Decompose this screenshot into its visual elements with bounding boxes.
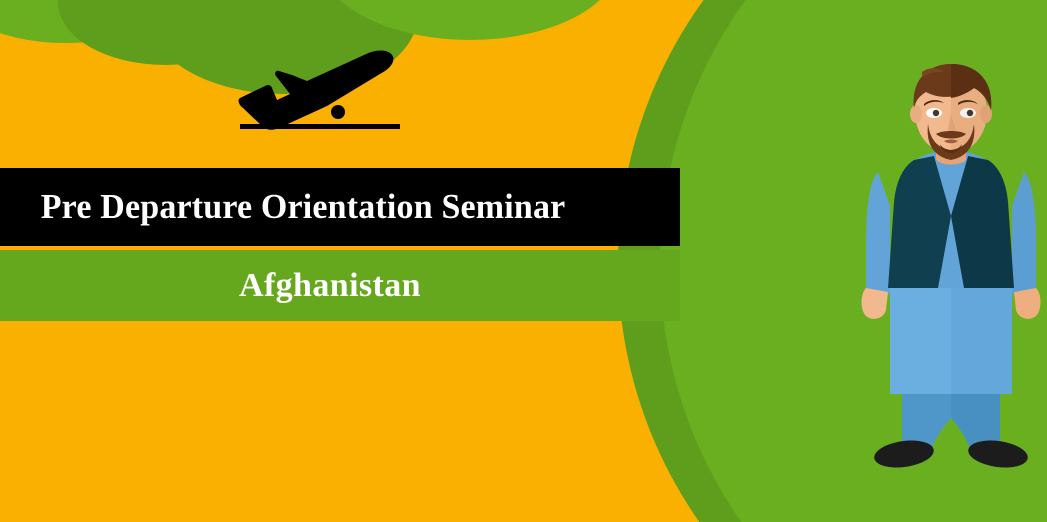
runway-line <box>240 124 400 129</box>
country-label: Afghanistan <box>239 267 421 305</box>
country-banner: Afghanistan <box>0 250 680 321</box>
poster-canvas: Pre Departure Orientation Seminar Afghan… <box>0 0 1047 522</box>
page-title: Pre Departure Orientation Seminar <box>0 187 565 227</box>
title-banner: Pre Departure Orientation Seminar <box>0 168 680 246</box>
afghan-man-illustration <box>856 56 1046 476</box>
